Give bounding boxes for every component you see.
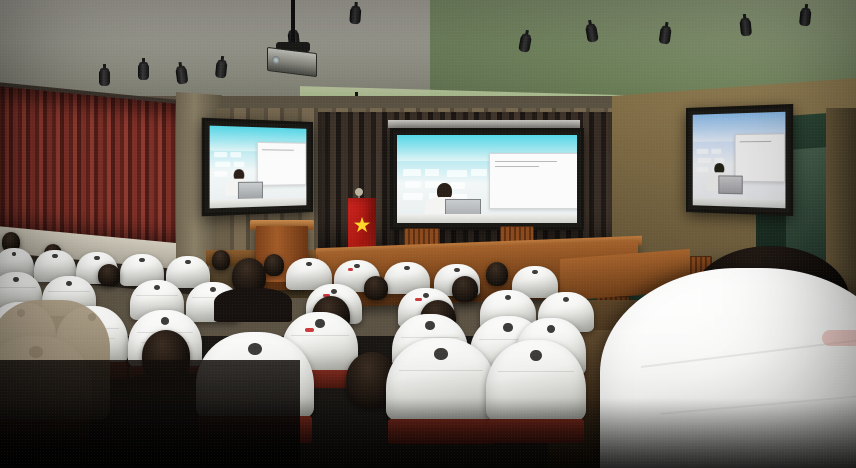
track-light-icon	[215, 55, 228, 78]
bottom-vignette	[0, 398, 856, 468]
foreground-chair-tag	[822, 330, 856, 346]
feed-slide-panel	[489, 153, 577, 209]
screen-image-center	[397, 135, 577, 223]
attendee-head	[452, 276, 478, 302]
projector-lens-icon	[272, 56, 280, 65]
track-light-icon	[99, 64, 110, 86]
auditorium-photo: ★	[0, 0, 856, 468]
projector-pole	[291, 0, 295, 44]
feed-laptop	[718, 175, 742, 194]
screen-image-left	[210, 126, 307, 209]
projection-screen-center	[390, 128, 584, 230]
track-light-icon	[349, 2, 362, 25]
feed-slide-panel	[257, 142, 307, 186]
flag-star-icon: ★	[352, 216, 372, 236]
attendee-head	[486, 262, 508, 286]
screen-mount-bar	[388, 120, 580, 128]
attendee-shoulders	[214, 288, 292, 322]
feed-desk	[397, 214, 577, 223]
projection-screen-right	[686, 104, 793, 216]
flag-finial	[355, 188, 363, 196]
feed-desk	[210, 197, 307, 208]
track-light-icon	[739, 13, 752, 36]
attendee-head	[98, 264, 120, 286]
attendee-head	[364, 276, 388, 300]
track-light-icon	[799, 3, 812, 26]
track-light-icon	[138, 58, 149, 80]
feed-desk	[693, 197, 786, 208]
projection-screen-left	[202, 118, 313, 217]
feed-laptop	[238, 182, 263, 200]
attendee-head	[264, 254, 284, 276]
screen-image-right	[693, 112, 786, 209]
attendee-head	[212, 250, 230, 270]
